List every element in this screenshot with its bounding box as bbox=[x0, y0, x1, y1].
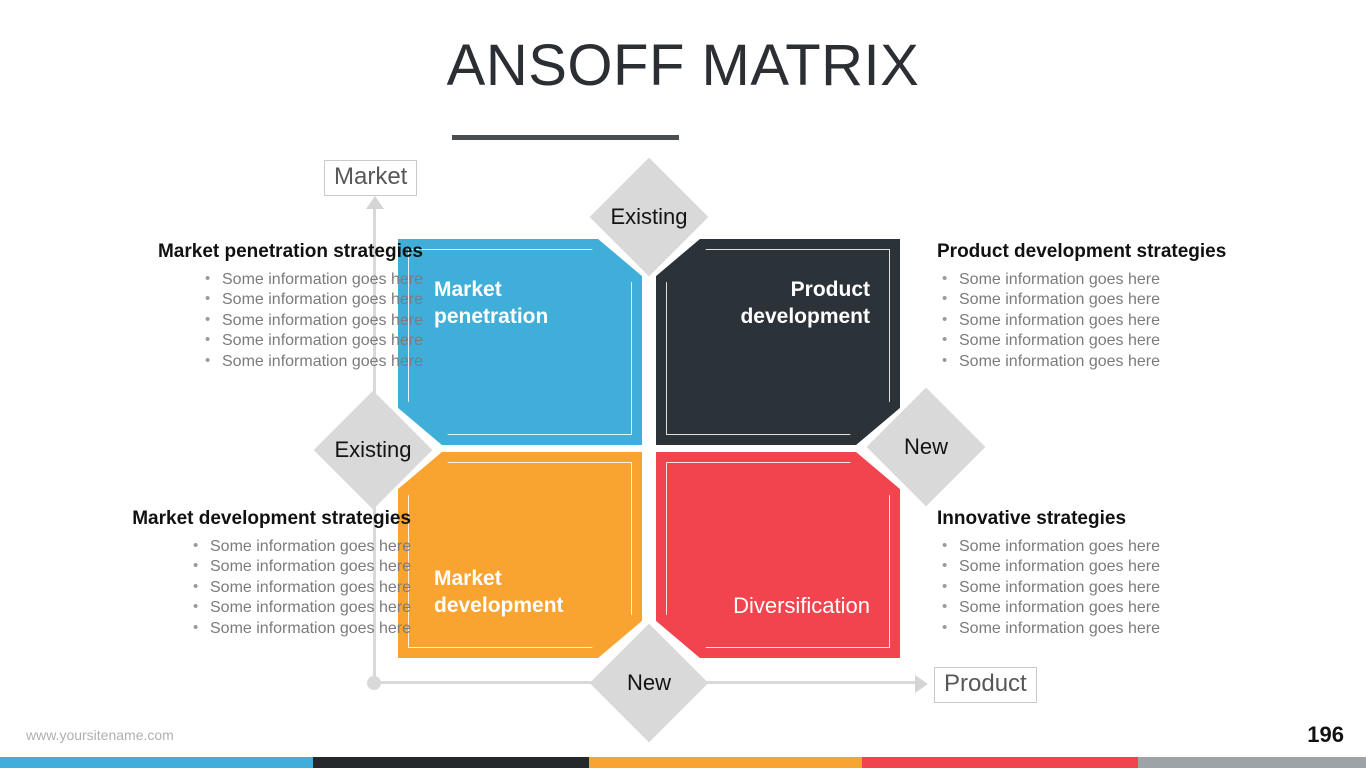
list-item: Some information goes here bbox=[188, 578, 411, 599]
list-item: Some information goes here bbox=[937, 537, 1282, 558]
footer-website-url[interactable]: www.yoursitename.com bbox=[26, 727, 174, 743]
quadrant-label: Market development bbox=[434, 566, 564, 620]
list-item: Some information goes here bbox=[200, 331, 423, 352]
axis-label-bottom: New bbox=[564, 672, 734, 694]
info-bullet-list: Some information goes here Some informat… bbox=[188, 537, 411, 640]
quadrant-market-development[interactable]: Market development bbox=[398, 452, 642, 658]
title-underline bbox=[452, 135, 679, 140]
info-block-product-development-strategies: Product development strategies Some info… bbox=[937, 241, 1282, 372]
list-item: Some information goes here bbox=[200, 290, 423, 311]
list-item: Some information goes here bbox=[937, 598, 1282, 619]
y-axis-title: Market bbox=[324, 160, 417, 196]
info-heading: Product development strategies bbox=[937, 241, 1282, 264]
info-block-innovative-strategies: Innovative strategies Some information g… bbox=[937, 508, 1282, 639]
info-heading: Market development strategies bbox=[66, 508, 411, 531]
list-item: Some information goes here bbox=[937, 331, 1282, 352]
page-number: 196 bbox=[1307, 722, 1344, 748]
quadrant-inner-outline bbox=[666, 462, 890, 648]
list-item: Some information goes here bbox=[937, 619, 1282, 640]
quadrant-label: Product development bbox=[740, 277, 870, 331]
info-bullet-list: Some information goes here Some informat… bbox=[937, 270, 1282, 373]
info-heading: Innovative strategies bbox=[937, 508, 1282, 531]
page-title: ANSOFF MATRIX bbox=[0, 34, 1366, 98]
axis-origin-dot bbox=[367, 676, 381, 690]
info-bullet-list: Some information goes here Some informat… bbox=[200, 270, 423, 373]
list-item: Some information goes here bbox=[937, 290, 1282, 311]
list-item: Some information goes here bbox=[937, 557, 1282, 578]
quadrant-label: Diversification bbox=[733, 592, 870, 620]
quadrant-diversification[interactable]: Diversification bbox=[656, 452, 900, 658]
list-item: Some information goes here bbox=[937, 578, 1282, 599]
footer-bar-segment-gray bbox=[1138, 757, 1366, 768]
y-axis-arrow-icon bbox=[366, 196, 384, 209]
info-block-market-development-strategies: Market development strategies Some infor… bbox=[66, 508, 411, 639]
info-block-market-penetration-strategies: Market penetration strategies Some infor… bbox=[78, 241, 423, 372]
axis-label-top: Existing bbox=[564, 206, 734, 228]
list-item: Some information goes here bbox=[200, 311, 423, 332]
list-item: Some information goes here bbox=[188, 537, 411, 558]
x-axis-arrow-icon bbox=[915, 675, 928, 693]
list-item: Some information goes here bbox=[937, 311, 1282, 332]
footer-bar-segment-red bbox=[862, 757, 1138, 768]
quadrant-market-penetration[interactable]: Market penetration bbox=[398, 239, 642, 445]
footer-bar-segment-blue bbox=[0, 757, 313, 768]
list-item: Some information goes here bbox=[200, 352, 423, 373]
x-axis-title: Product bbox=[934, 667, 1037, 703]
footer-bar-segment-dark bbox=[313, 757, 589, 768]
footer-bar-segment-orange bbox=[589, 757, 862, 768]
quadrant-inner-outline bbox=[408, 462, 632, 648]
list-item: Some information goes here bbox=[937, 352, 1282, 373]
list-item: Some information goes here bbox=[200, 270, 423, 291]
quadrant-product-development[interactable]: Product development bbox=[656, 239, 900, 445]
quadrant-label: Market penetration bbox=[434, 277, 548, 331]
list-item: Some information goes here bbox=[188, 619, 411, 640]
info-heading: Market penetration strategies bbox=[78, 241, 423, 264]
footer-color-bar bbox=[0, 757, 1366, 768]
info-bullet-list: Some information goes here Some informat… bbox=[937, 537, 1282, 640]
list-item: Some information goes here bbox=[188, 557, 411, 578]
list-item: Some information goes here bbox=[188, 598, 411, 619]
list-item: Some information goes here bbox=[937, 270, 1282, 291]
